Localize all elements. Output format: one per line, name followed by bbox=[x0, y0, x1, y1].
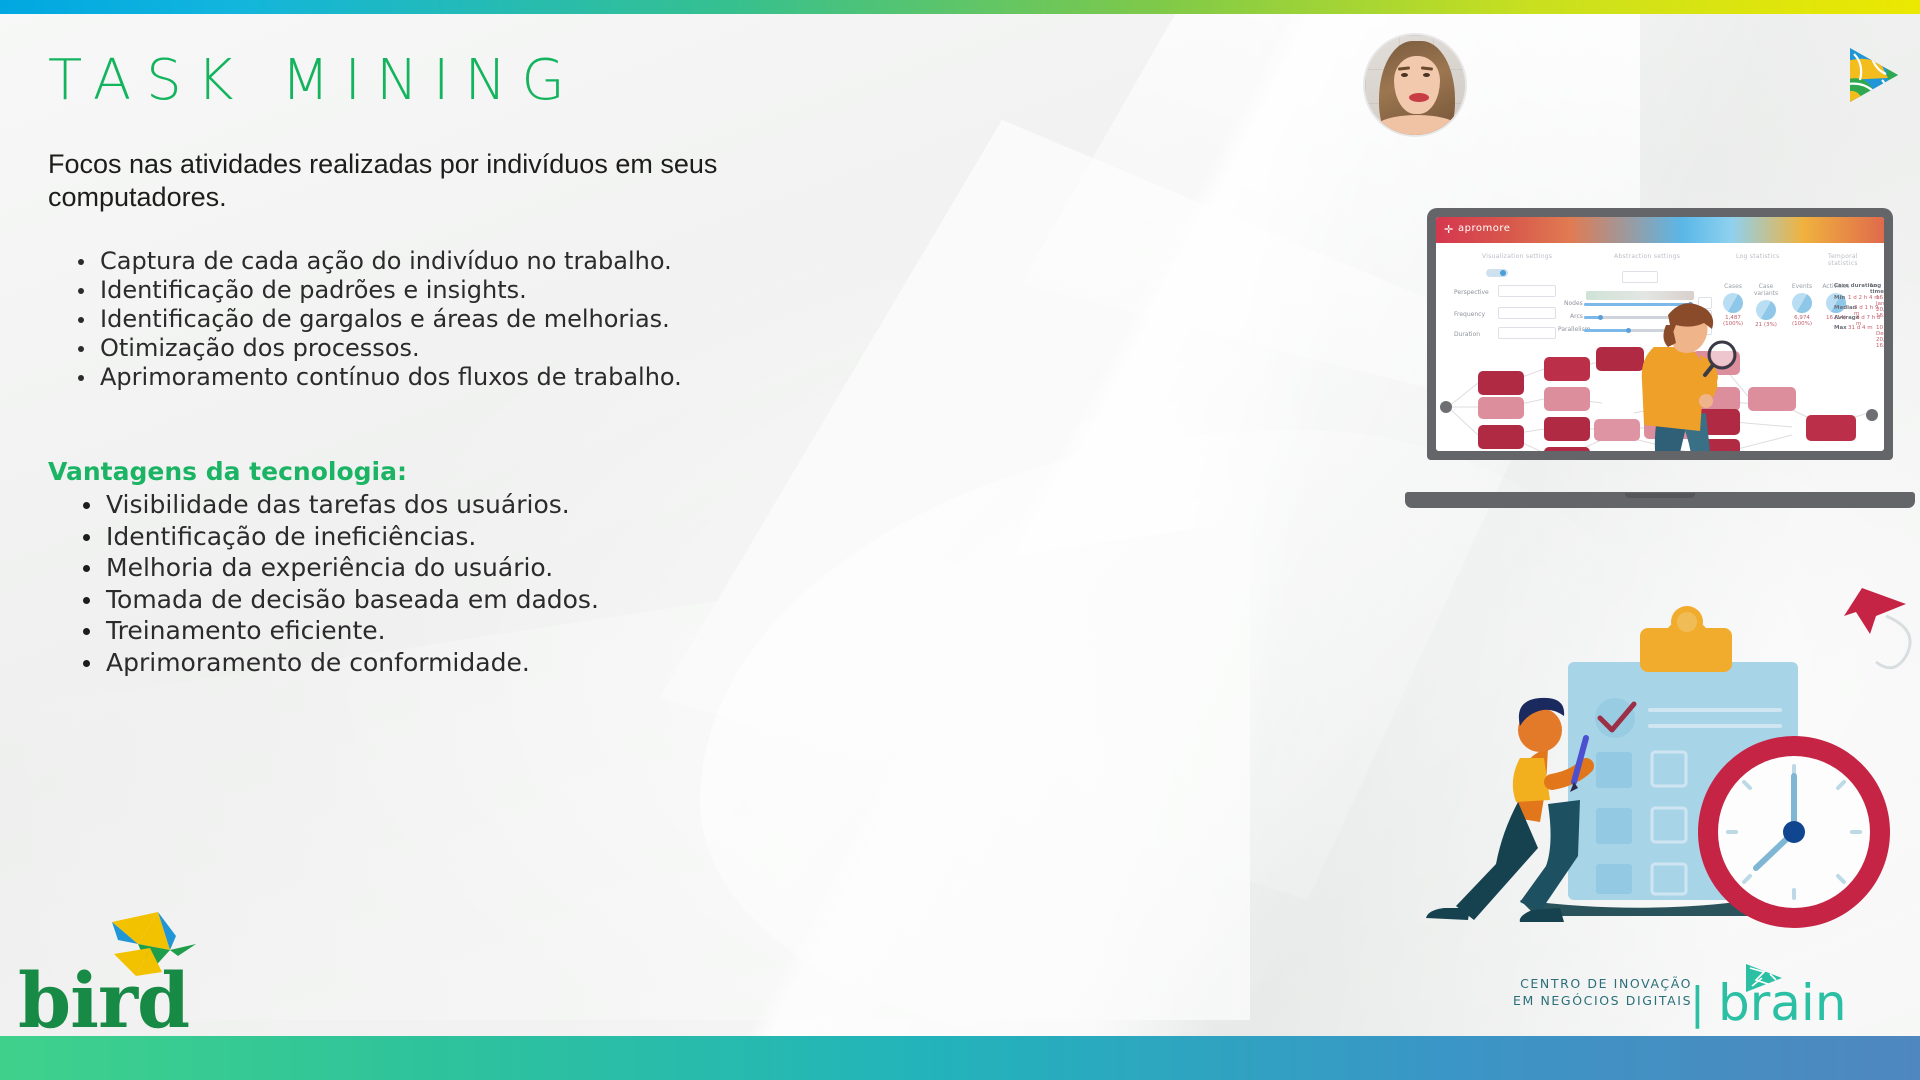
bird-wordmark: bird bbox=[18, 956, 189, 1045]
end-node-icon bbox=[1866, 409, 1878, 421]
avatar-eye-left bbox=[1401, 73, 1408, 77]
input-field[interactable] bbox=[1498, 307, 1556, 319]
brain-logo: | brain bbox=[1690, 962, 1905, 1034]
list-item: Visibilidade das tarefas dos usuários. bbox=[70, 489, 830, 521]
metric-caption: Case variants bbox=[1748, 283, 1784, 297]
slider-label: Nodes bbox=[1564, 300, 1583, 307]
man-shoe-back bbox=[1426, 908, 1470, 920]
advantages-heading: Vantagens da tecnologia: bbox=[48, 457, 407, 486]
input-field[interactable] bbox=[1498, 327, 1556, 339]
slider-label: Arcs bbox=[1570, 313, 1583, 320]
laptop-screen: ✛ apromore Visualization settings Abstra… bbox=[1436, 217, 1884, 451]
laptop-lid: ✛ apromore Visualization settings Abstra… bbox=[1427, 208, 1893, 460]
avatar bbox=[1363, 33, 1467, 137]
stat-key: Min bbox=[1834, 295, 1845, 301]
avatar-lips bbox=[1409, 93, 1429, 102]
list-item: Otimização dos processos. bbox=[66, 334, 786, 363]
metric-events: Events 6,974 (100%) bbox=[1786, 283, 1818, 327]
top-gradient-bar bbox=[0, 0, 1920, 14]
app-header-bar: ✛ apromore bbox=[1436, 217, 1884, 243]
metric-value: 21 (3%) bbox=[1748, 322, 1784, 328]
section-header: Log statistics bbox=[1736, 253, 1780, 260]
input-field[interactable] bbox=[1498, 285, 1556, 297]
list-item: Aprimoramento de conformidade. bbox=[70, 647, 830, 679]
metric-caption: Cases bbox=[1718, 283, 1748, 290]
woman-with-magnifier-illustration bbox=[1614, 295, 1744, 451]
laptop-illustration: ✛ apromore Visualization settings Abstra… bbox=[1405, 208, 1915, 508]
toggle-knob[interactable] bbox=[1500, 270, 1506, 276]
metric-donut-icon bbox=[1792, 293, 1812, 313]
page-title: TASK MINING bbox=[48, 48, 580, 113]
list-item: Tomada de decisão baseada em dados. bbox=[70, 584, 830, 616]
cin-branding: CENTRO DE INOVAÇÃO EM NEGÓCIOS DIGITAIS bbox=[1513, 975, 1692, 1009]
list-item: Identificação de ineficiências. bbox=[70, 521, 830, 553]
metric-value: 6,974 (100%) bbox=[1786, 315, 1818, 327]
field-label: Frequency bbox=[1454, 311, 1485, 318]
app-name: apromore bbox=[1458, 223, 1510, 234]
paper-plane-icon bbox=[1844, 588, 1906, 634]
section-header: Abstraction settings bbox=[1614, 253, 1680, 260]
brain-wordmark-text: brain bbox=[1718, 974, 1847, 1032]
dashboard-panel: Visualization settings Abstraction setti… bbox=[1436, 243, 1884, 451]
avatar-eye-right bbox=[1423, 73, 1430, 77]
slider-knob[interactable] bbox=[1598, 315, 1603, 320]
cin-line-1: CENTRO DE INOVAÇÃO bbox=[1513, 975, 1692, 992]
intro-paragraph: Focos nas atividades realizadas por indi… bbox=[48, 148, 728, 214]
stat-value: 1 d 2 h 4 m bbox=[1848, 295, 1880, 301]
field-label: Duration bbox=[1454, 331, 1480, 338]
list-item: Treinamento eficiente. bbox=[70, 615, 830, 647]
list-item: Identificação de gargalos e áreas de mel… bbox=[66, 305, 786, 334]
apromore-mark-icon: ✛ bbox=[1444, 225, 1454, 235]
section-header: Temporal statistics bbox=[1828, 253, 1884, 267]
play-triangle-logo-icon bbox=[1842, 44, 1904, 106]
man-shoe-front bbox=[1520, 908, 1564, 922]
bottom-gradient-bar bbox=[0, 1036, 1920, 1080]
stat-key: Max bbox=[1834, 325, 1847, 331]
avatar-shoulders bbox=[1375, 115, 1459, 137]
section-header: Visualization settings bbox=[1482, 253, 1552, 260]
metric-caption: Events bbox=[1786, 283, 1818, 290]
start-node-icon bbox=[1440, 401, 1452, 413]
cin-line-2: EM NEGÓCIOS DIGITAIS bbox=[1513, 992, 1692, 1009]
paper-plane-trail bbox=[1876, 616, 1910, 668]
clock-center bbox=[1783, 821, 1805, 843]
list-item: Captura de cada ação do indivíduo no tra… bbox=[66, 247, 786, 276]
list-item: Melhoria da experiência do usuário. bbox=[70, 552, 830, 584]
metric-donut-icon bbox=[1756, 300, 1776, 320]
main-bullet-list: Captura de cada ação do indivíduo no tra… bbox=[66, 247, 786, 392]
list-item: Identificação de padrões e insights. bbox=[66, 276, 786, 305]
stat-column-header: Log timeframe bbox=[1870, 283, 1884, 295]
abstraction-input[interactable] bbox=[1622, 271, 1658, 283]
slide-canvas: TASK MINING Focos nas atividades realiza… bbox=[0, 0, 1920, 1080]
bird-logo: bird bbox=[10, 900, 260, 1032]
list-item: Aprimoramento contínuo dos fluxos de tra… bbox=[66, 363, 786, 392]
brain-divider: | bbox=[1690, 978, 1705, 1029]
stat-value: 31 d 4 m bbox=[1848, 325, 1873, 331]
advantages-bullet-list: Visibilidade das tarefas dos usuários. I… bbox=[70, 489, 830, 678]
metric-case-variants: Case variants 21 (3%) bbox=[1748, 283, 1784, 328]
laptop-notch bbox=[1625, 493, 1695, 498]
clipboard-clock-illustration bbox=[1400, 570, 1920, 930]
field-label: Perspective bbox=[1454, 289, 1489, 296]
